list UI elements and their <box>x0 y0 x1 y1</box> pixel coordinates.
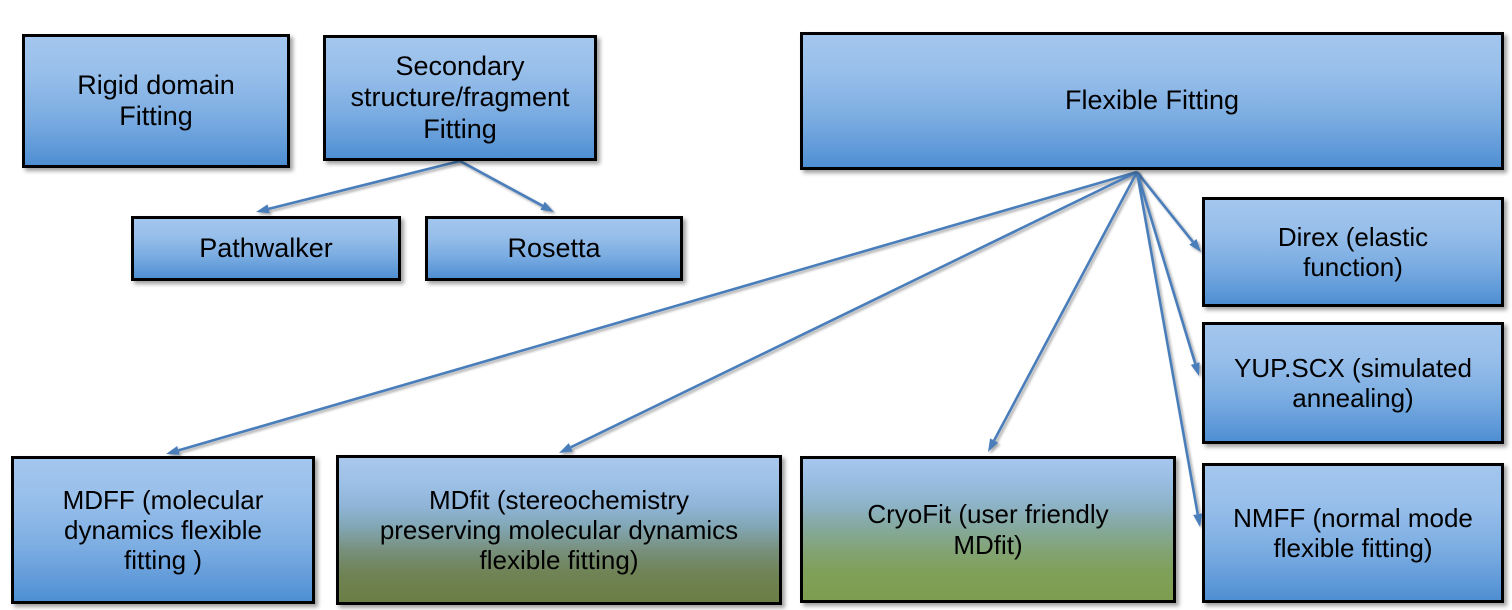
node-yup-scx[interactable]: YUP.SCX (simulatedannealing) <box>1202 322 1504 444</box>
connector-flexible-to-mdff <box>166 172 1137 455</box>
diagram-canvas: Rigid domainFittingSecondarystructure/fr… <box>0 0 1512 610</box>
node-nmff[interactable]: NMFF (normal modeflexible fitting) <box>1202 463 1504 603</box>
node-label: MDfit (stereochemistrypreserving molecul… <box>347 485 771 575</box>
node-label: MDFF (moleculardynamics flexiblefitting … <box>22 485 304 575</box>
connector-flexible-to-mdfit <box>559 172 1137 453</box>
node-label: YUP.SCX (simulatedannealing) <box>1213 353 1493 413</box>
connector-flexible-to-yupscx <box>1137 172 1200 376</box>
node-label: Rigid domainFitting <box>33 70 279 133</box>
node-pathwalker[interactable]: Pathwalker <box>131 216 401 281</box>
node-label: Direx (elasticfunction) <box>1213 222 1493 282</box>
connector-secondary-to-rosetta <box>460 161 554 212</box>
node-secondary-structure-fragment-fitting[interactable]: Secondarystructure/fragmentFitting <box>323 35 597 161</box>
connector-flexible-to-direx <box>1137 172 1201 252</box>
node-cryofit[interactable]: CryoFit (user friendlyMDfit) <box>800 456 1176 603</box>
connector-flexible-to-cryofit <box>988 172 1137 452</box>
node-mdff[interactable]: MDFF (moleculardynamics flexiblefitting … <box>11 456 315 604</box>
node-rigid-domain-fitting[interactable]: Rigid domainFitting <box>22 34 290 168</box>
node-flexible-fitting[interactable]: Flexible Fitting <box>800 32 1504 170</box>
connector-secondary-to-pathwalker <box>256 161 460 213</box>
node-label: Rosetta <box>436 233 672 264</box>
node-rosetta[interactable]: Rosetta <box>425 216 683 281</box>
node-label: Secondarystructure/fragmentFitting <box>334 51 586 145</box>
node-label: Flexible Fitting <box>811 85 1493 116</box>
node-label: NMFF (normal modeflexible fitting) <box>1213 503 1493 563</box>
node-label: Pathwalker <box>142 233 390 264</box>
node-mdfit[interactable]: MDfit (stereochemistrypreserving molecul… <box>336 455 782 605</box>
node-label: CryoFit (user friendlyMDfit) <box>811 499 1165 559</box>
node-direx[interactable]: Direx (elasticfunction) <box>1202 197 1504 307</box>
